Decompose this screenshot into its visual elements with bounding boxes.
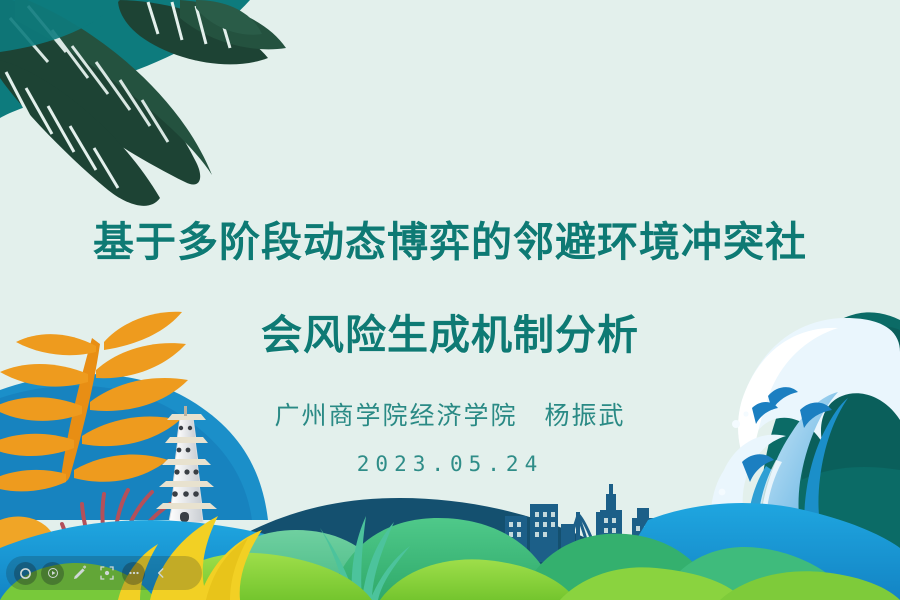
presentation-slide: 基于多阶段动态博弈的邻避环境冲突社 会风险生成机制分析 广州商学院经济学院 杨振… — [0, 0, 900, 600]
grass-tuft — [320, 516, 410, 600]
pointer-tool[interactable] — [14, 562, 37, 585]
city-skyline-ridge — [200, 484, 672, 600]
previous-slide[interactable] — [149, 562, 172, 585]
slide-title-block: 基于多阶段动态博弈的邻避环境冲突社 会风险生成机制分析 广州商学院经济学院 杨振… — [0, 196, 900, 476]
play-button[interactable] — [41, 562, 64, 585]
top-left-leaf-cluster — [0, 0, 286, 206]
slide-subtitle-author: 广州商学院经济学院 杨振武 — [0, 396, 900, 432]
more-options[interactable] — [122, 562, 145, 585]
pen-tool[interactable] — [68, 562, 91, 585]
presentation-toolbar[interactable] — [6, 556, 202, 590]
city-skyline — [505, 484, 672, 562]
slide-date: 2023.05.24 — [0, 452, 900, 476]
zoom-region-tool[interactable] — [95, 562, 118, 585]
title-line-1: 基于多阶段动态博弈的邻避环境冲突社 — [0, 196, 900, 289]
title-line-2: 会风险生成机制分析 — [0, 289, 900, 382]
